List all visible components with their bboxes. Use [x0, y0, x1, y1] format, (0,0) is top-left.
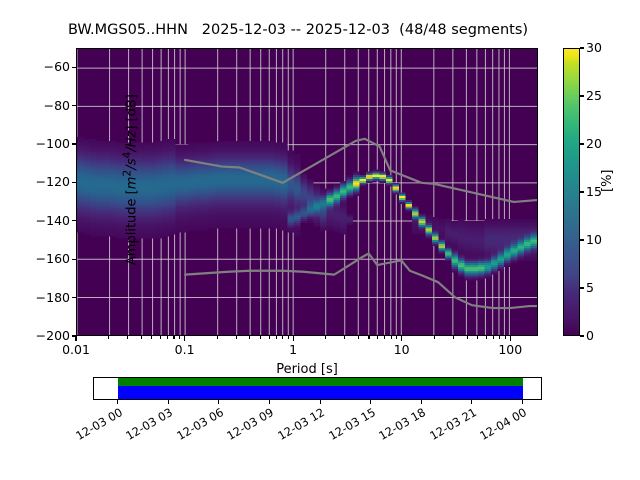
- y-tick-mark: [72, 182, 76, 183]
- coverage-timeline: [93, 377, 542, 400]
- y-tick-mark: [72, 297, 76, 298]
- x-tick-mark: [75, 336, 76, 341]
- y-tick-mark: [72, 143, 76, 144]
- colorbar: [563, 48, 580, 336]
- x-axis-label: Period [s]: [76, 362, 538, 377]
- x-tick-mark: [179, 336, 180, 339]
- colorbar-tick-label: 25: [586, 88, 602, 103]
- x-tick-mark: [282, 336, 283, 339]
- timeline-tick-mark: [168, 400, 169, 404]
- colorbar-tick-label: 10: [586, 232, 602, 247]
- x-tick-label: 1: [253, 342, 333, 357]
- timeline-tick-mark: [421, 400, 422, 404]
- y-tick-mark: [72, 67, 76, 68]
- y-tick-label: −180: [10, 290, 70, 305]
- x-tick-mark: [293, 336, 294, 341]
- y-tick-label: −120: [10, 174, 70, 189]
- x-tick-mark: [510, 336, 511, 341]
- x-tick-mark: [477, 336, 478, 339]
- x-tick-mark: [288, 336, 289, 339]
- x-tick-label: 100: [470, 342, 550, 357]
- colorbar-tick-mark: [580, 335, 584, 336]
- y-axis-label: Amplitude [m2/s4/Hz] [dB]: [105, 48, 154, 336]
- x-tick-mark: [276, 336, 277, 339]
- y-tick-mark: [72, 259, 76, 260]
- x-tick-mark: [236, 336, 237, 339]
- x-tick-label: 10: [362, 342, 442, 357]
- x-tick-mark: [486, 336, 487, 339]
- colorbar-tick-mark: [580, 239, 584, 240]
- x-tick-mark: [493, 336, 494, 339]
- timeline-tick-mark: [320, 400, 321, 404]
- x-tick-mark: [377, 336, 378, 339]
- timeline-tick-mark: [522, 400, 523, 404]
- colorbar-tick-mark: [580, 287, 584, 288]
- x-tick-mark: [325, 336, 326, 339]
- x-tick-mark: [396, 336, 397, 339]
- x-tick-mark: [173, 336, 174, 339]
- x-tick-mark: [160, 336, 161, 339]
- colorbar-tick-mark: [580, 47, 584, 48]
- x-tick-mark: [127, 336, 128, 339]
- colorbar-tick-mark: [580, 143, 584, 144]
- x-tick-label: 0.1: [145, 342, 225, 357]
- y-tick-mark: [72, 105, 76, 106]
- x-tick-mark: [344, 336, 345, 339]
- x-tick-mark: [499, 336, 500, 339]
- colorbar-tick-mark: [580, 191, 584, 192]
- x-tick-mark: [391, 336, 392, 339]
- colorbar-label: [%]: [600, 152, 615, 192]
- timeline-tick-mark: [117, 400, 118, 404]
- timeline-tick-mark: [218, 400, 219, 404]
- x-tick-mark: [249, 336, 250, 339]
- x-tick-mark: [467, 336, 468, 339]
- x-tick-mark: [505, 336, 506, 339]
- y-tick-label: −100: [10, 136, 70, 151]
- x-tick-mark: [358, 336, 359, 339]
- colorbar-tick-label: 5: [586, 280, 594, 295]
- x-tick-mark: [384, 336, 385, 339]
- page-title: BW.MGS05..HHN 2025-12-03 -- 2025-12-03 (…: [0, 22, 596, 38]
- timeline-tick-mark: [471, 400, 472, 404]
- x-tick-mark: [151, 336, 152, 339]
- x-tick-mark: [217, 336, 218, 339]
- y-tick-label: −200: [10, 328, 70, 343]
- x-tick-mark: [401, 336, 402, 341]
- timeline-coverage-bar: [118, 386, 523, 399]
- x-tick-mark: [184, 336, 185, 341]
- timeline-tick-mark: [269, 400, 270, 404]
- y-tick-label: −140: [10, 213, 70, 228]
- x-tick-mark: [434, 336, 435, 339]
- timeline-tick-mark: [370, 400, 371, 404]
- y-tick-label: −160: [10, 251, 70, 266]
- ppsd-axes: Amplitude [m2/s4/Hz] [dB]: [76, 48, 538, 336]
- timeline-segments-bar: [118, 378, 523, 386]
- x-tick-mark: [167, 336, 168, 339]
- x-tick-mark: [141, 336, 142, 339]
- y-tick-label: −80: [10, 98, 70, 113]
- x-tick-label: 0.01: [36, 342, 116, 357]
- x-tick-mark: [108, 336, 109, 339]
- x-tick-mark: [260, 336, 261, 339]
- colorbar-tick-label: 0: [586, 328, 594, 343]
- colorbar-tick-label: 30: [586, 40, 602, 55]
- y-tick-label: −60: [10, 59, 70, 74]
- ppsd-figure: BW.MGS05..HHN 2025-12-03 -- 2025-12-03 (…: [0, 0, 640, 480]
- x-tick-mark: [269, 336, 270, 339]
- colorbar-tick-label: 20: [586, 136, 602, 151]
- x-tick-mark: [453, 336, 454, 339]
- y-tick-mark: [72, 220, 76, 221]
- colorbar-tick-mark: [580, 95, 584, 96]
- x-tick-mark: [368, 336, 369, 339]
